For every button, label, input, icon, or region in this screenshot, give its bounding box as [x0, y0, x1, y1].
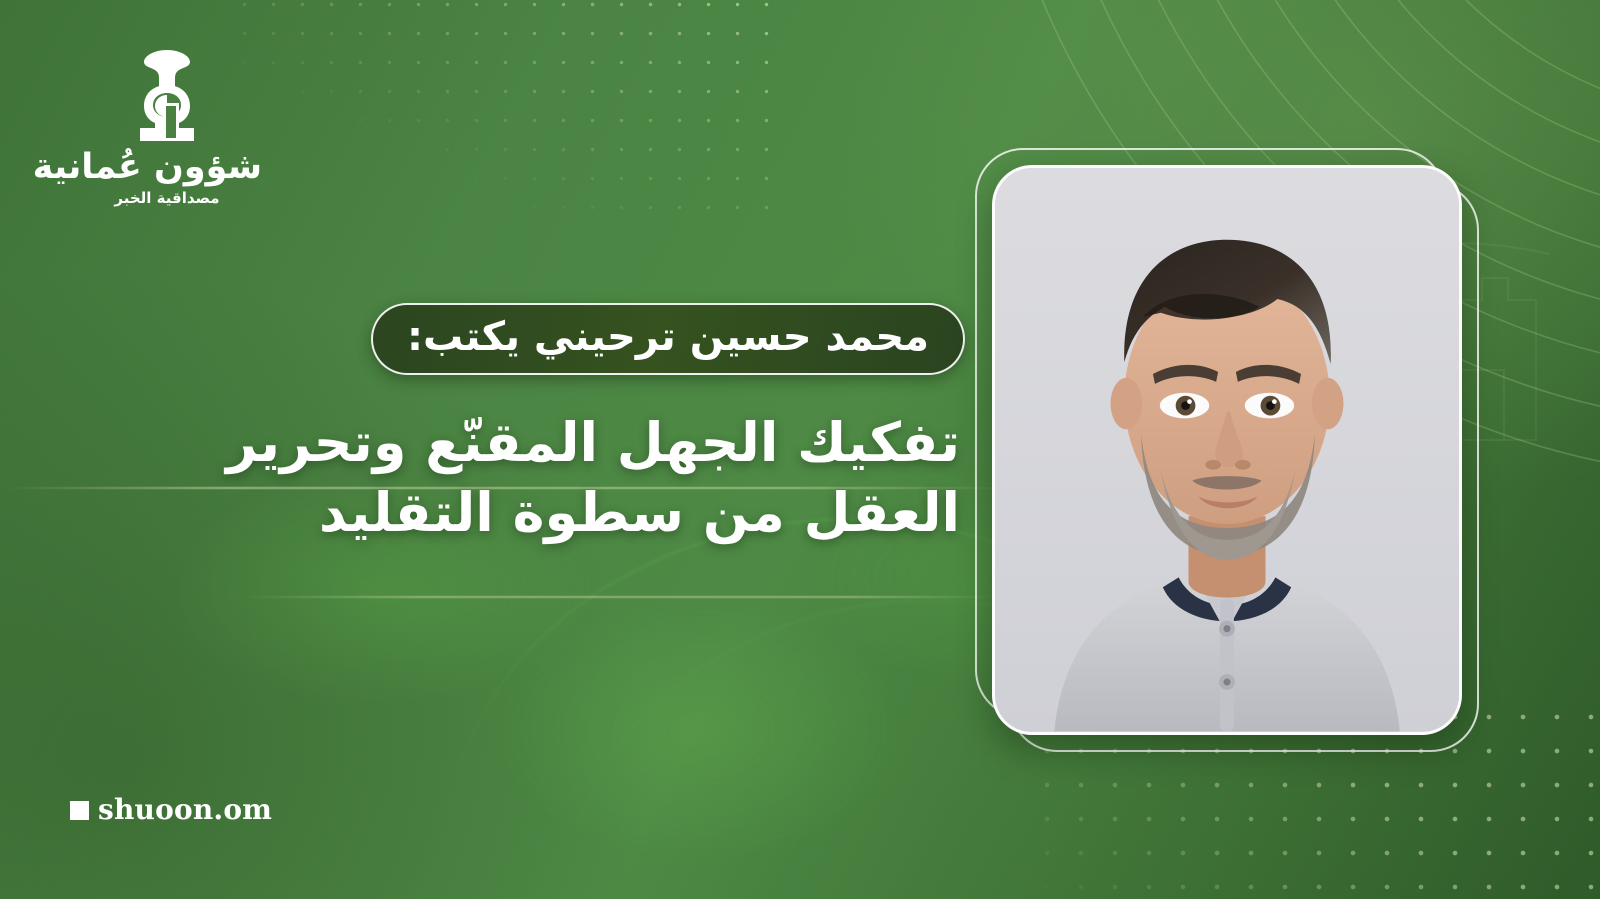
headline-line-1: تفكيك الجهل المقنّع وتحرير [150, 408, 960, 478]
brand-logo[interactable]: شؤون عُمانية مصداقية الخبر [72, 48, 262, 206]
dot-grid-top [230, 0, 790, 220]
square-bullet-icon [70, 801, 89, 820]
site-footer[interactable]: shuoon.om [70, 796, 272, 824]
portrait-container [992, 165, 1462, 735]
horizon-line-secondary [240, 596, 1000, 598]
brand-name: شؤون عُمانية [72, 149, 262, 186]
site-url[interactable]: shuoon.om [98, 796, 272, 824]
headline: تفكيك الجهل المقنّع وتحرير العقل من سطوة… [150, 408, 960, 548]
author-badge-label: محمد حسين ترحيني يكتب: [407, 314, 929, 360]
brand-tagline: مصداقية الخبر [72, 191, 262, 206]
headline-line-2: العقل من سطوة التقليد [150, 478, 960, 548]
author-badge: محمد حسين ترحيني يكتب: [371, 303, 965, 375]
incense-burner-emblem-icon [119, 48, 215, 143]
author-portrait [992, 165, 1462, 735]
news-card: شؤون عُمانية مصداقية الخبر محمد حسين ترح… [0, 0, 1600, 899]
